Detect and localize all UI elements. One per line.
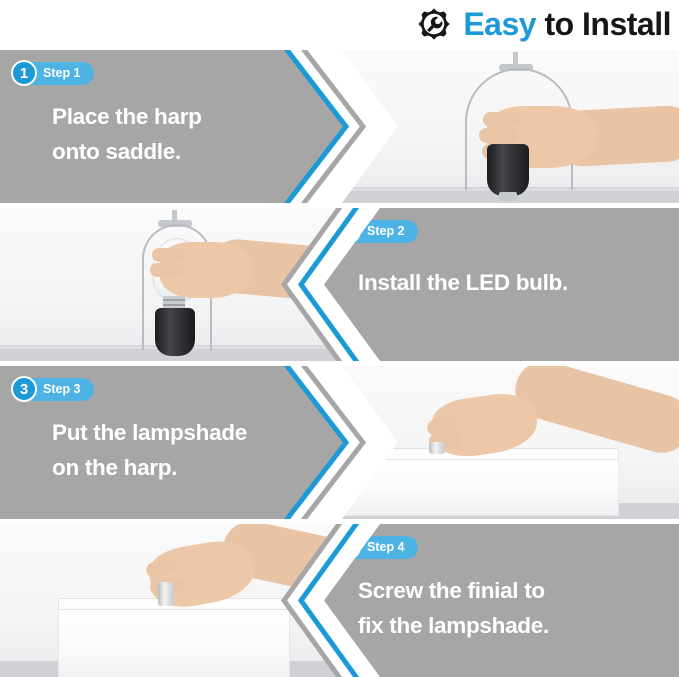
step-photo-1	[317, 50, 679, 203]
step-text-panel-3: 3 Step 3 Put the lampshade on the harp.	[0, 366, 355, 519]
step-pill-label-4: Step 4	[340, 536, 418, 559]
photo-scene-bulb	[0, 208, 362, 361]
lamp-socket	[487, 144, 529, 196]
step-badge-3: 3 Step 3	[11, 376, 94, 402]
page-header: Easy to Install	[0, 0, 679, 47]
gear-wrench-icon	[417, 7, 451, 41]
step-badge-1: 1 Step 1	[11, 60, 94, 86]
step-badge-4: 4 Step 4	[335, 534, 418, 560]
step-instruction-2: Install the LED bulb.	[358, 265, 668, 300]
photo-scene-lampshade	[317, 366, 679, 519]
finial	[158, 582, 174, 606]
step-number-4: 4	[335, 534, 361, 560]
lampshade	[327, 454, 619, 516]
lampshade	[58, 604, 290, 677]
step-instruction-4: Screw the finial to fix the lampshade.	[358, 573, 668, 643]
finial	[429, 442, 445, 454]
step-number-2: 2	[335, 218, 361, 244]
step-row-1: 1 Step 1 Place the harp onto saddle.	[0, 50, 679, 203]
page-title-rest: to Install	[536, 6, 671, 42]
step-photo-2	[0, 208, 362, 361]
step-instruction-1: Place the harp onto saddle.	[52, 99, 332, 169]
step-badge-2: 2 Step 2	[335, 218, 418, 244]
step-instruction-3: Put the lampshade on the harp.	[52, 415, 332, 485]
step-row-3: 3 Step 3 Put the lampshade on the harp.	[0, 366, 679, 519]
step-row-4: 4 Step 4 Screw the finial to fix the lam…	[0, 524, 679, 677]
step-photo-3	[317, 366, 679, 519]
step-text-panel-1: 1 Step 1 Place the harp onto saddle.	[0, 50, 355, 203]
lamp-socket	[155, 308, 195, 356]
step-text-panel-2: 2 Step 2 Install the LED bulb.	[324, 208, 679, 361]
finger	[479, 128, 519, 143]
photo-scene-finial	[0, 524, 362, 677]
page-title-highlight: Easy	[463, 6, 536, 42]
step-pill-label-2: Step 2	[340, 220, 418, 243]
step-number-1: 1	[11, 60, 37, 86]
socket-base	[499, 192, 517, 201]
photo-scene-harp	[317, 50, 679, 203]
finger	[152, 248, 186, 262]
step-row-2: 2 Step 2 Install the LED bulb.	[0, 208, 679, 361]
step-number-3: 3	[11, 376, 37, 402]
finger	[150, 263, 184, 277]
step-photo-4	[0, 524, 362, 677]
page-title: Easy to Install	[463, 7, 671, 41]
finger	[483, 112, 521, 127]
header-content: Easy to Install	[417, 7, 671, 41]
step-text-panel-4: 4 Step 4 Screw the finial to fix the lam…	[324, 524, 679, 677]
